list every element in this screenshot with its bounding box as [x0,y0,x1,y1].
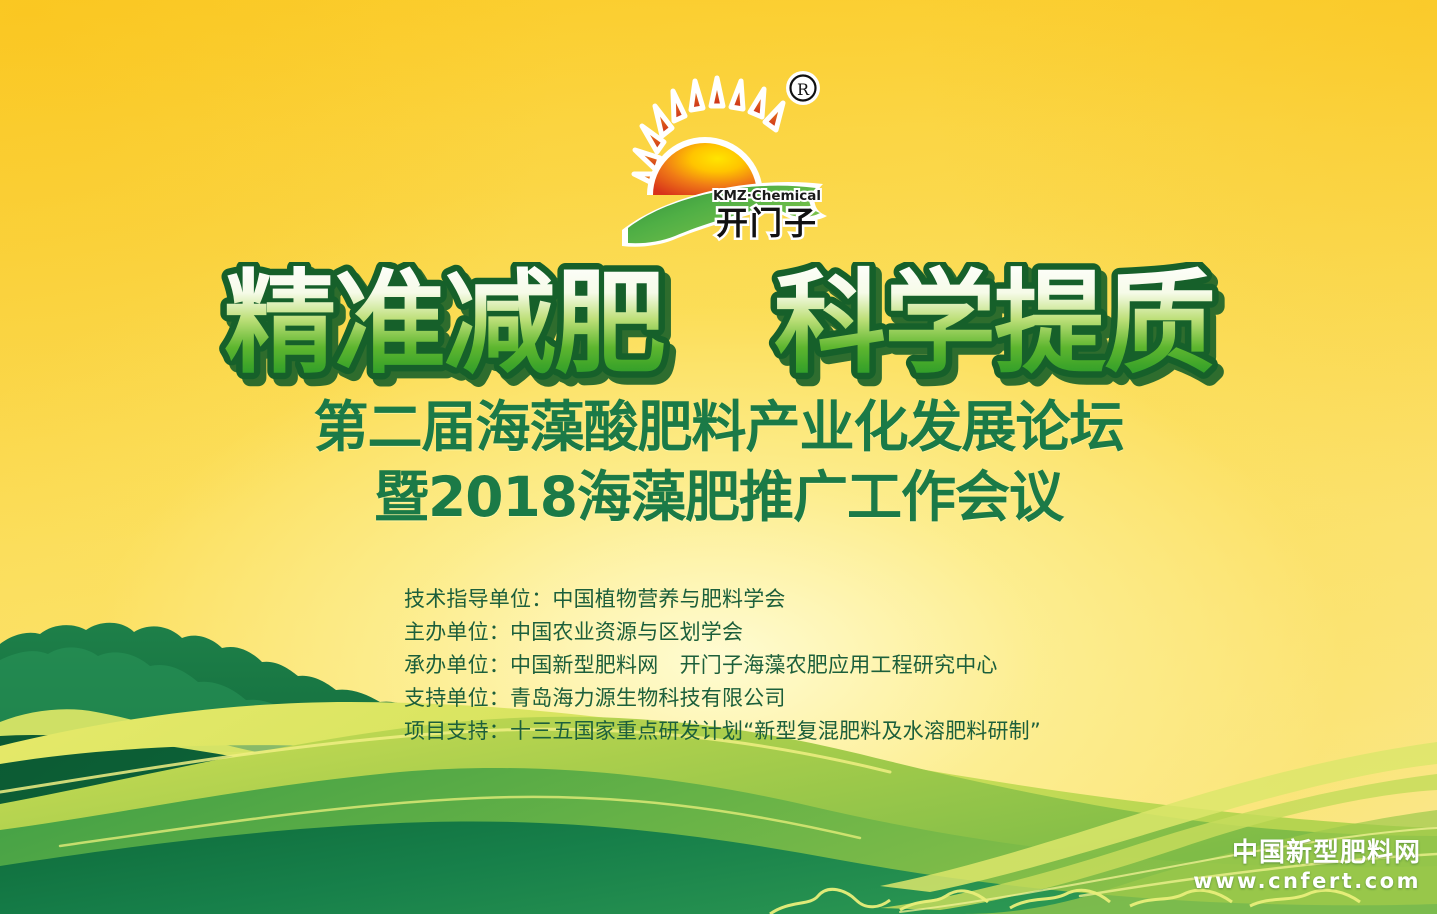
kmz-chemical-logo: KMZ·Chemical 开门子 R [617,62,847,252]
logo-brand-text: KMZ·Chemical 开门子 [713,188,821,242]
logo-chinese-name: 开门子 [716,204,818,242]
subtitle-line-1: 第二届海藻酸肥料产业化发展论坛 [0,396,1437,460]
headline: 精准减肥 科学提质 [0,262,1437,392]
watermark-url: www.cnfert.com [1193,868,1421,894]
credits-block: 技术指导单位：中国植物营养与肥料学会 主办单位：中国农业资源与区划学会 承办单位… [404,583,1164,748]
registered-trademark-icon: R [786,71,820,105]
svg-text:R: R [797,80,810,99]
logo-latin-name: KMZ·Chemical [713,188,821,204]
credit-line-organizer: 主办单位：中国农业资源与区划学会 [404,616,1164,649]
credit-line-project-support: 项目支持：十三五国家重点研发计划“新型复混肥料及水溶肥料研制” [404,715,1164,748]
watermark-site-name: 中国新型肥料网 [1193,838,1421,868]
credit-line-technical-guidance: 技术指导单位：中国植物营养与肥料学会 [404,583,1164,616]
credit-line-co-organizer: 承办单位：中国新型肥料网 开门子海藻农肥应用工程研究中心 [404,649,1164,682]
site-watermark: 中国新型肥料网 www.cnfert.com [1193,838,1421,894]
subtitle-block: 第二届海藻酸肥料产业化发展论坛 暨2018海藻肥推广工作会议 [0,396,1437,530]
conference-banner: KMZ·Chemical 开门子 R [0,0,1437,914]
credit-line-supporter: 支持单位：青岛海力源生物科技有限公司 [404,682,1164,715]
subtitle-line-2: 暨2018海藻肥推广工作会议 [0,466,1437,530]
headline-text: 精准减肥 科学提质 [224,262,1214,389]
